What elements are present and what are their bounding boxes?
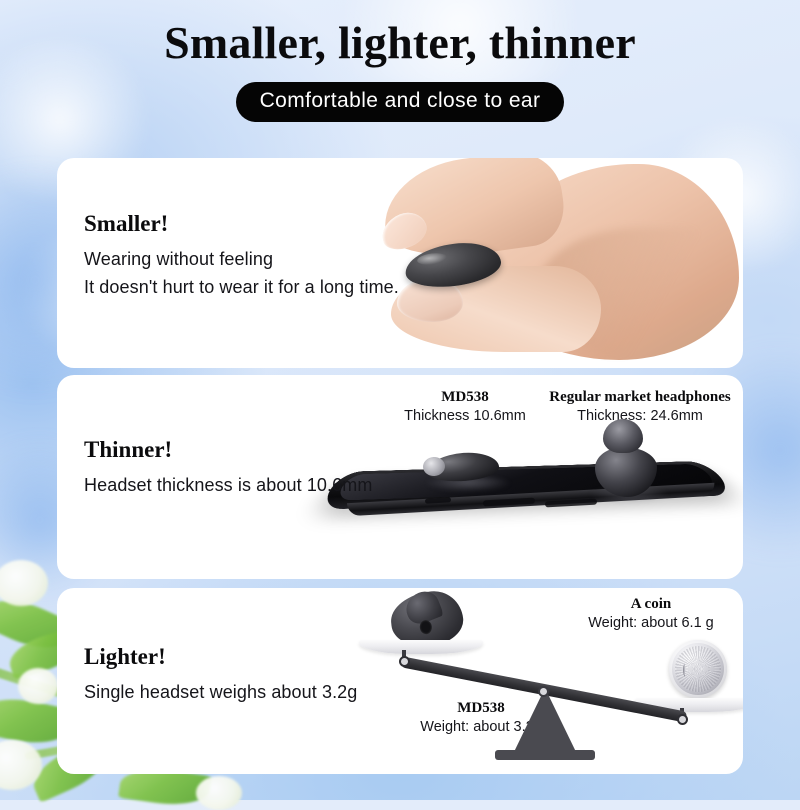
- label-md538-thickness: MD538 Thickness 10.6mm: [385, 389, 545, 424]
- scale-hinge-right: [677, 714, 688, 725]
- regular-headphone-top: [603, 419, 643, 453]
- card-smaller-line-2: It doesn't hurt to wear it for a long ti…: [84, 274, 399, 302]
- card-lighter-text: Lighter! Single headset weighs about 3.2…: [84, 644, 357, 707]
- feature-card-lighter: A coin Weight: about 6.1 g MD538 Weight:…: [57, 588, 743, 774]
- label-coin-weight: A coin Weight: about 6.1 g: [559, 596, 743, 631]
- earbud-speaker-port: [419, 620, 432, 635]
- scale-foot: [495, 750, 595, 760]
- card-lighter-line-1: Single headset weighs about 3.2g: [84, 679, 357, 707]
- coin-engraving: [683, 656, 713, 682]
- card-thinner-heading: Thinner!: [84, 437, 372, 463]
- label-regular-thickness: Regular market headphones Thickness: 24.…: [525, 389, 743, 424]
- label-coin-name: A coin: [559, 596, 743, 613]
- label-coin-value: Weight: about 6.1 g: [559, 615, 743, 631]
- scale-pedestal: [513, 688, 577, 754]
- blossom: [196, 776, 242, 810]
- feature-card-smaller: Smaller! Wearing without feeling It does…: [57, 158, 743, 368]
- feature-card-thinner: MD538 Thickness 10.6mm Regular market he…: [57, 375, 743, 579]
- hand-pinching-earbud-illustration: [363, 158, 743, 368]
- label-regular-name: Regular market headphones: [525, 389, 743, 406]
- card-lighter-heading: Lighter!: [84, 644, 357, 670]
- coin-on-pan: [669, 640, 727, 698]
- scale-pivot-pin: [538, 686, 549, 697]
- tagline-badge: Comfortable and close to ear: [236, 82, 565, 122]
- card-smaller-heading: Smaller!: [84, 211, 399, 237]
- header: Smaller, lighter, thinner Comfortable an…: [0, 0, 800, 122]
- scale-pan-left: [359, 640, 483, 654]
- page-title: Smaller, lighter, thinner: [0, 20, 800, 66]
- scale-hinge-left: [399, 656, 410, 667]
- card-thinner-line-1: Headset thickness is about 10.6mm: [84, 472, 372, 500]
- badge-container: Comfortable and close to ear: [0, 82, 800, 122]
- card-smaller-line-1: Wearing without feeling: [84, 246, 399, 274]
- label-md538-value: Thickness 10.6mm: [385, 408, 545, 424]
- balance-scale-illustration: A coin Weight: about 6.1 g MD538 Weight:…: [377, 588, 743, 774]
- label-md538-name: MD538: [385, 389, 545, 406]
- card-thinner-text: Thinner! Headset thickness is about 10.6…: [84, 437, 372, 500]
- card-smaller-text: Smaller! Wearing without feeling It does…: [84, 211, 399, 302]
- blossom: [18, 668, 58, 704]
